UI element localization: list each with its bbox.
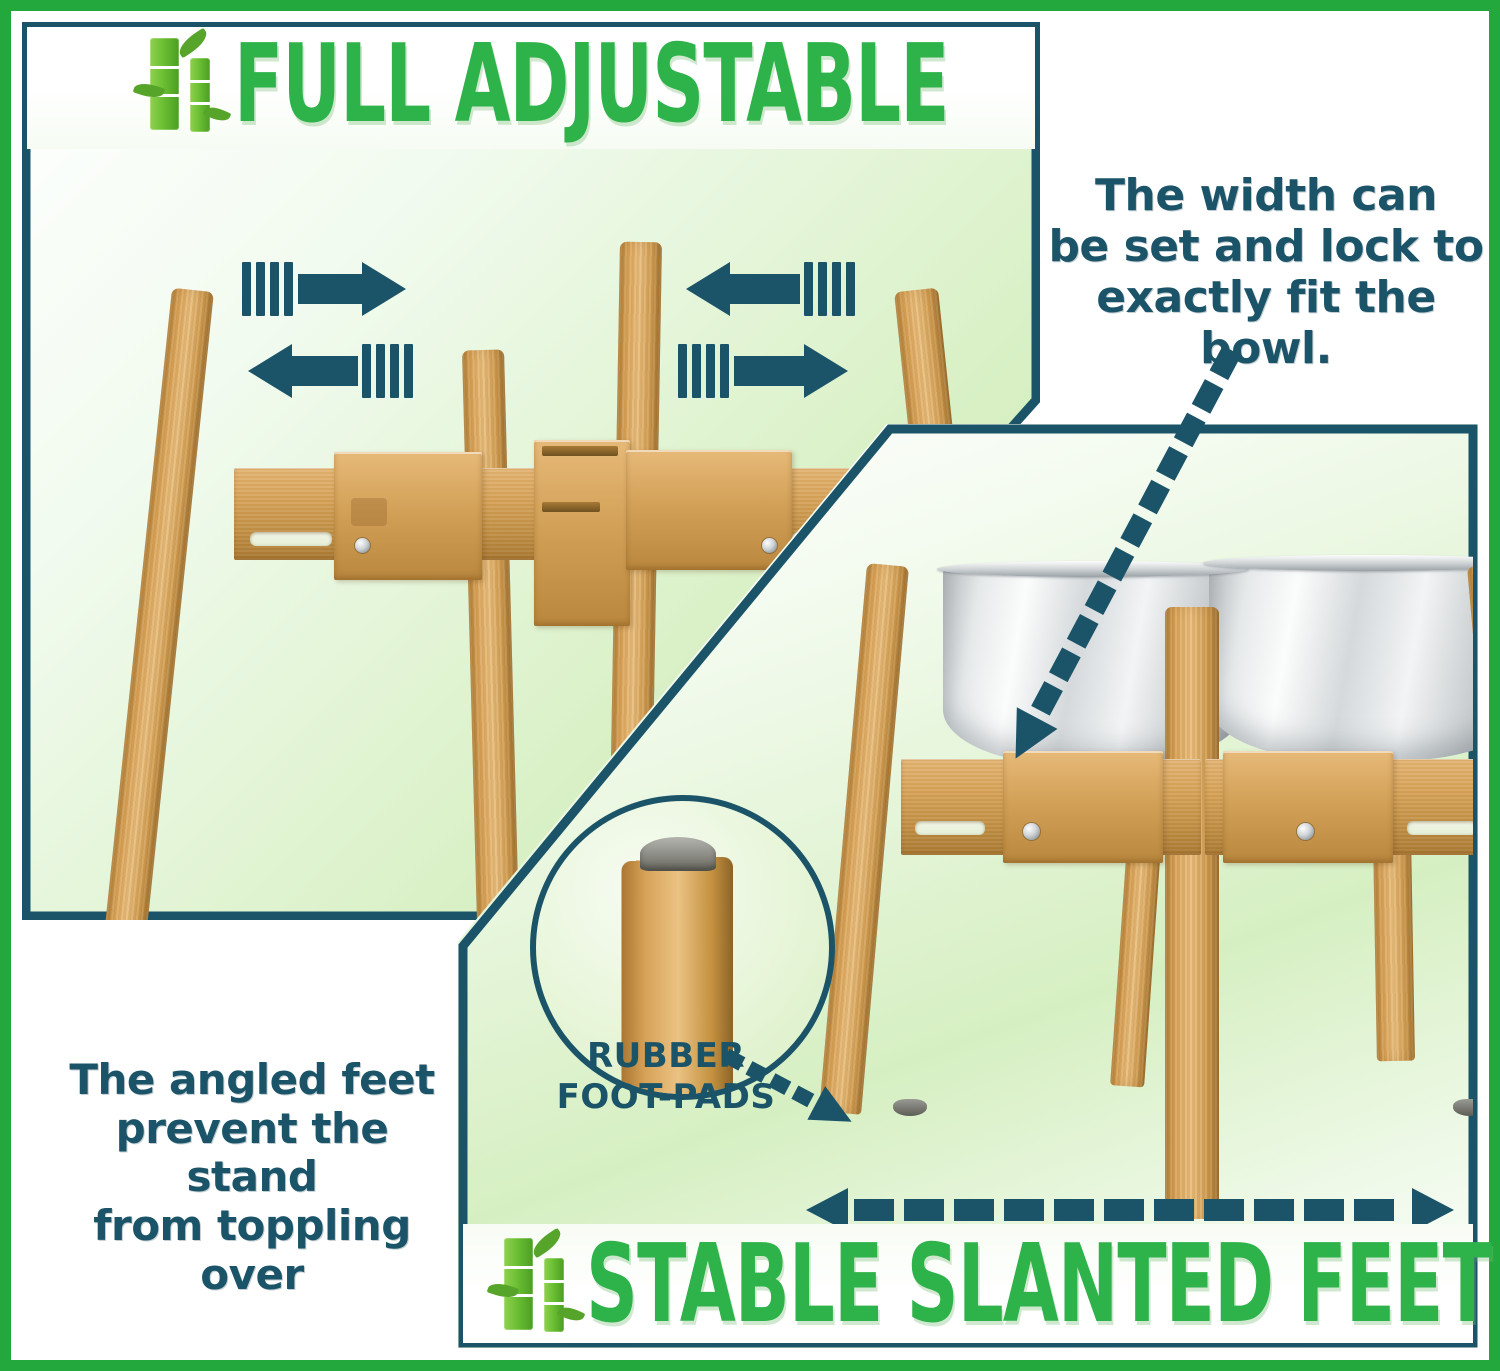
heading-full-adjustable: FULL ADJUSTABLE	[138, 28, 1046, 140]
arrow-right-top	[242, 262, 406, 316]
callout-angled-feet-line3: from toppling	[46, 1202, 458, 1251]
callout-angled-feet: The angled feet prevent the stand from t…	[46, 1056, 458, 1300]
bowl-stand-post-center	[1165, 607, 1219, 1219]
callout-width-lock-line3: exactly fit the bowl.	[1040, 272, 1492, 374]
stand-screw-left	[355, 538, 370, 553]
label-rubber-foot-pads: RUBBER FOOT-PADS	[556, 1036, 776, 1118]
callout-width-lock: The width can be set and lock to exactly…	[1040, 170, 1492, 374]
bowl-stand-slot-right	[1407, 821, 1473, 835]
bamboo-icon	[138, 32, 224, 136]
callout-angled-feet-line1: The angled feet	[46, 1056, 458, 1105]
callout-width-lock-line2: be set and lock to	[1040, 221, 1492, 272]
callout-width-lock-line1: The width can	[1040, 170, 1492, 221]
zoom-rubber-pad	[640, 837, 716, 871]
stand-adjust-slot-left	[250, 532, 332, 546]
heading-full-adjustable-text: FULL ADJUSTABLE	[234, 21, 949, 146]
stand-leg-outer-left	[93, 288, 214, 920]
brand-mark	[351, 498, 387, 526]
arrow-left-second	[248, 344, 412, 398]
callout-angled-feet-line4: over	[46, 1251, 458, 1300]
heading-stable-slanted-feet-text: STABLE SLANTED FEET	[586, 1221, 1491, 1346]
rubber-foot-pad-left	[893, 1099, 927, 1116]
steel-bowl-right	[1209, 561, 1473, 761]
bowl-stand-lock-block-left	[1003, 751, 1163, 863]
width-span-double-arrow	[806, 1199, 1470, 1221]
arrow-left-top-right	[686, 262, 858, 316]
bowl-stand-slot-left	[915, 821, 985, 835]
bowl-stand-screw-left	[1023, 823, 1040, 840]
bowl-stand-screw-right	[1297, 823, 1314, 840]
bamboo-icon-2	[492, 1232, 578, 1336]
callout-angled-feet-line2: prevent the stand	[46, 1105, 458, 1202]
steel-bowl-left-rim	[937, 561, 1249, 577]
heading-stable-slanted-feet: STABLE SLANTED FEET	[492, 1226, 1500, 1342]
bowl-stand-leg-front-left	[819, 563, 909, 1115]
arrow-right-bottom-right	[678, 344, 850, 398]
rubber-foot-pad-right	[1453, 1099, 1473, 1116]
bowl-stand-lock-block-right	[1223, 751, 1393, 863]
label-rubber-foot-pads-line2: FOOT-PADS	[556, 1077, 776, 1118]
